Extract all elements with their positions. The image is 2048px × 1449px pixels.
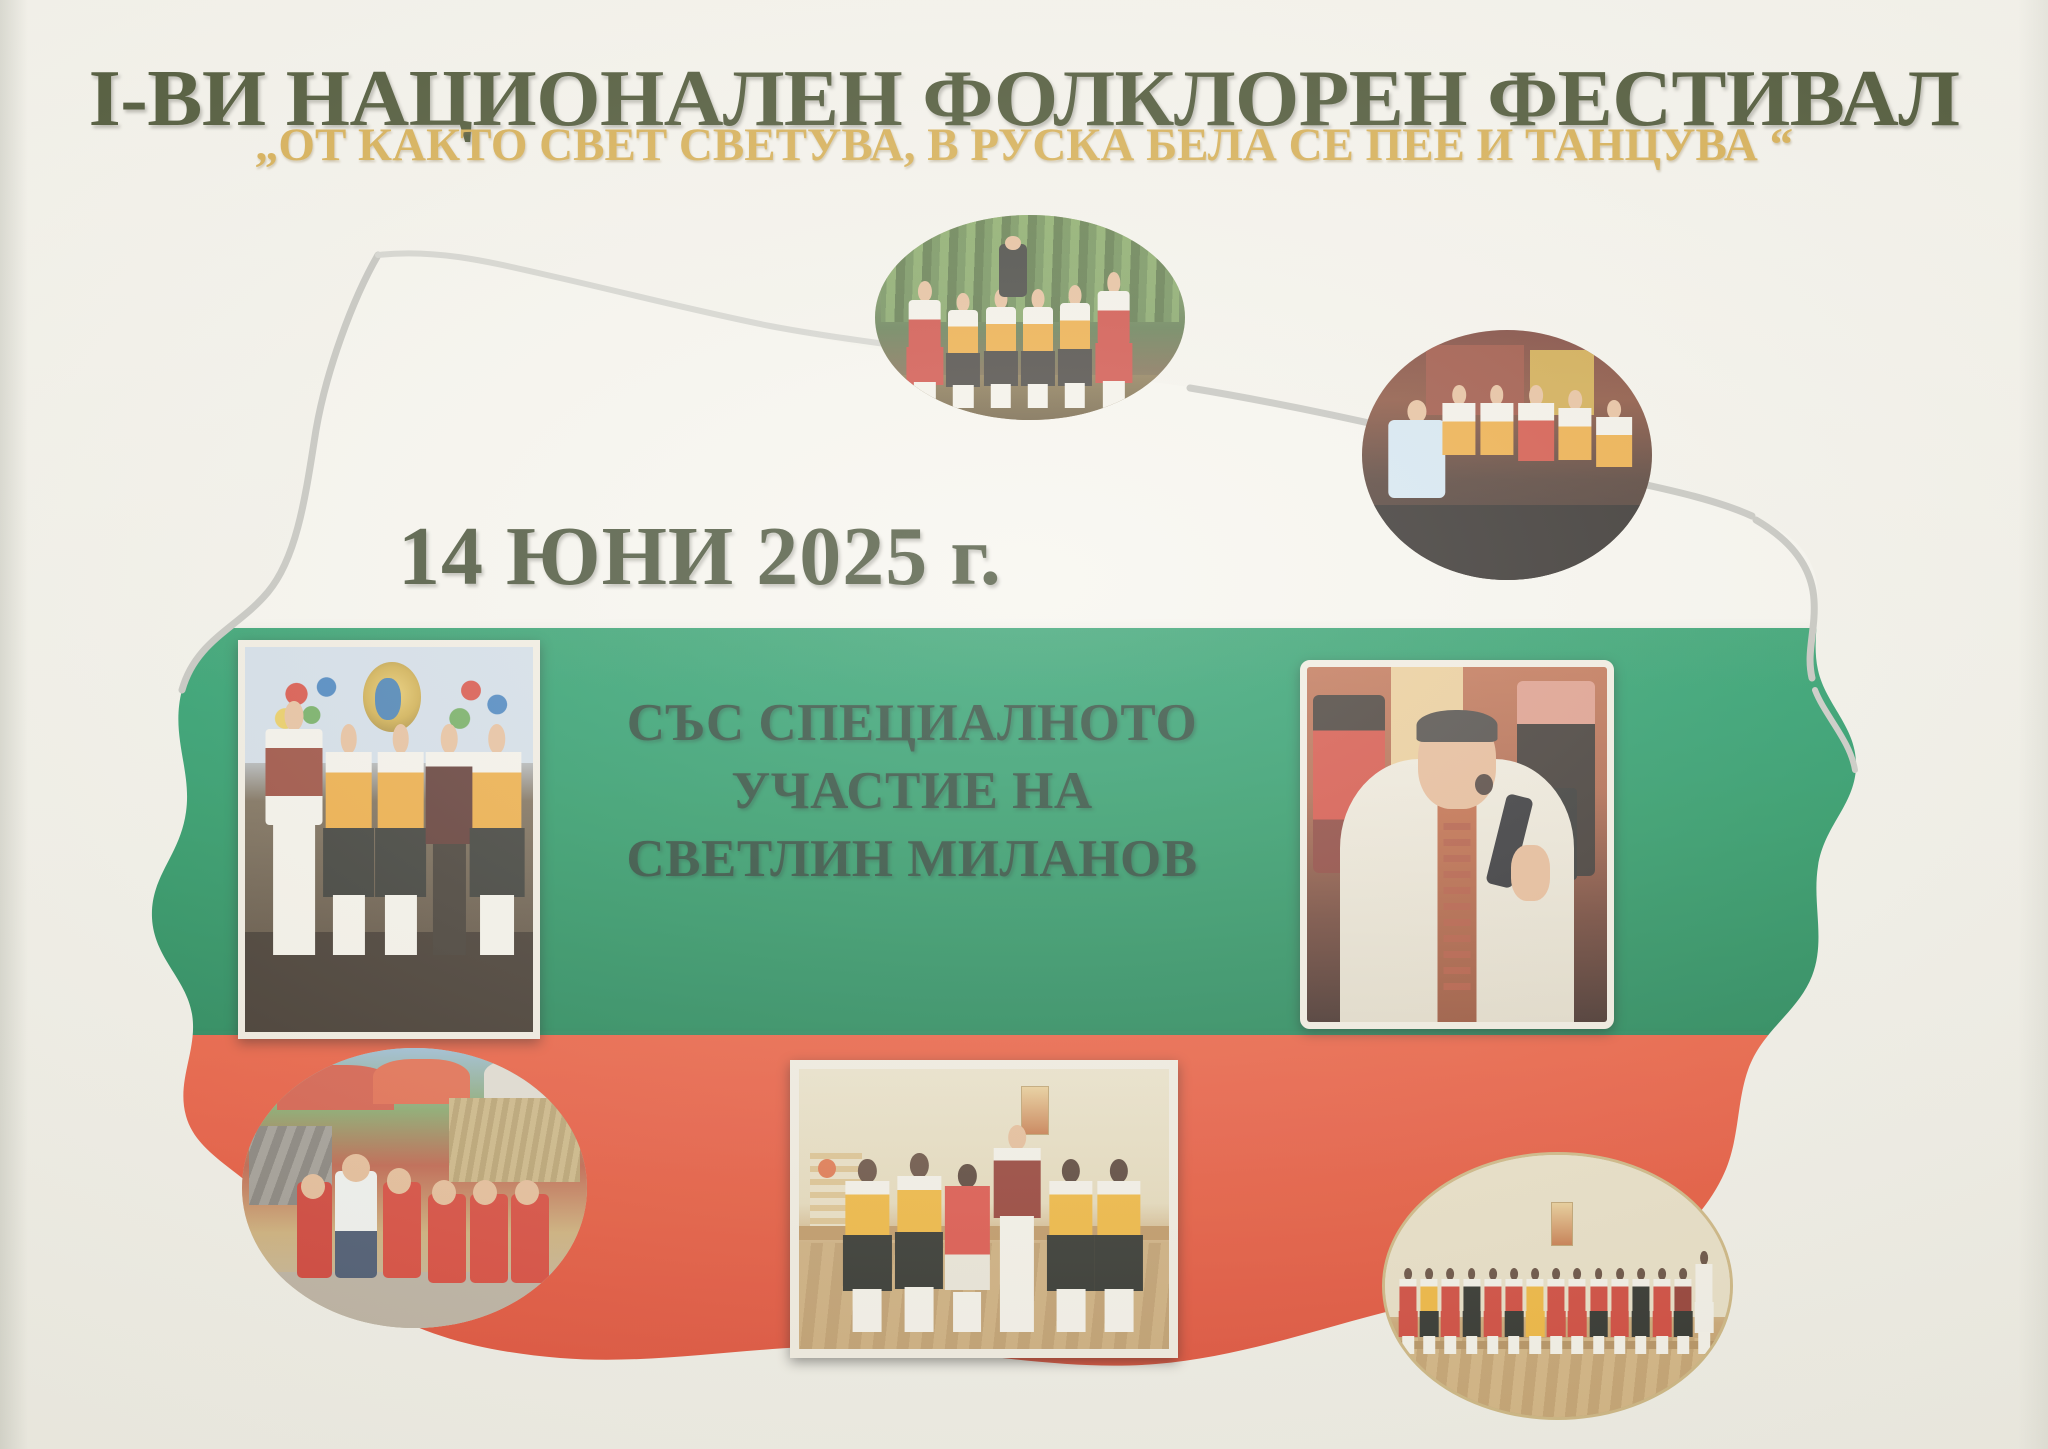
choir-figure-skirt xyxy=(1526,1311,1545,1337)
choir-figure-legs xyxy=(1402,1336,1414,1354)
choir-figure-head xyxy=(1700,1251,1708,1265)
poster-subtitle: „ОТ КАКТО СВЕТ СВЕТУВА, В РУСКА БЕЛА СЕ … xyxy=(0,122,2048,169)
choir-figure xyxy=(1632,1268,1651,1354)
photo-group-indoor-oval xyxy=(1362,330,1652,580)
choir-figure-skirt xyxy=(1505,1311,1524,1337)
photo-scene xyxy=(245,647,533,1032)
photo-scene xyxy=(242,1048,587,1328)
choir-figure-legs xyxy=(1614,1336,1626,1354)
choir-figure-legs xyxy=(1656,1336,1668,1354)
choir-figure-body xyxy=(1653,1279,1670,1312)
choir-figure-legs xyxy=(1423,1336,1435,1354)
choir-figure-body xyxy=(1442,1279,1459,1312)
special-guest-block: СЪС СПЕЦИАЛНОТО УЧАСТИЕ НА СВЕТЛИН МИЛАН… xyxy=(556,690,1268,893)
photo-scene xyxy=(1385,1155,1730,1417)
choir-figure xyxy=(1610,1268,1629,1354)
choir-figure xyxy=(1399,1268,1418,1354)
special-guest-line-1: СЪС СПЕЦИАЛНОТО xyxy=(556,690,1268,758)
choir-figure-legs xyxy=(1550,1336,1562,1354)
special-guest-line-3: СВЕТЛИН МИЛАНОВ xyxy=(556,826,1268,894)
choir-figure-skirt xyxy=(1610,1311,1629,1337)
choir-figure-skirt xyxy=(1589,1311,1608,1337)
choir-figure xyxy=(1420,1268,1439,1354)
photo-scene xyxy=(799,1069,1169,1349)
choir-figure-body xyxy=(1590,1279,1607,1312)
event-date: 14 ЮНИ 2025 г. xyxy=(398,515,1002,599)
choir-figure-skirt xyxy=(1674,1311,1693,1337)
choir-figure-body xyxy=(1421,1279,1438,1312)
choir-figure-skirt xyxy=(1653,1311,1672,1337)
choir-figure-body xyxy=(1484,1279,1501,1312)
choir-figure xyxy=(1547,1268,1566,1354)
photo-scene xyxy=(875,215,1185,420)
photo-scene xyxy=(1307,667,1607,1022)
choir-figure-skirt xyxy=(1547,1311,1566,1337)
choir-figure-skirt xyxy=(1399,1311,1418,1337)
choir-figure-legs xyxy=(1445,1336,1457,1354)
choir-figure-body xyxy=(1400,1279,1417,1312)
choir-figure xyxy=(1695,1251,1714,1354)
choir-figure-legs xyxy=(1572,1336,1584,1354)
choir-figure-body xyxy=(1611,1279,1628,1312)
choir-figure xyxy=(1483,1268,1502,1354)
choir-figure-legs xyxy=(1635,1336,1647,1354)
choir-figure xyxy=(1568,1268,1587,1354)
choir-figure-body xyxy=(1505,1279,1522,1312)
choir-figure-legs xyxy=(1487,1336,1499,1354)
photo-ensemble-hall-rect xyxy=(790,1060,1178,1358)
choir-figure-skirt xyxy=(1568,1311,1587,1337)
choir-figure xyxy=(1441,1268,1460,1354)
choir-figure-body xyxy=(1569,1279,1586,1312)
choir-figure-skirt xyxy=(1462,1311,1481,1337)
choir-figure-body xyxy=(1463,1279,1480,1312)
choir-figure-skirt xyxy=(1632,1311,1651,1337)
choir-figure xyxy=(1462,1268,1481,1354)
choir-figure-body xyxy=(1675,1279,1692,1312)
festival-poster: I-ВИ НАЦИОНАЛЕН ФОЛКЛОРЕН ФЕСТИВАЛ „ОТ К… xyxy=(0,0,2048,1449)
photo-singer-rect xyxy=(1300,660,1614,1029)
choir-figure xyxy=(1653,1268,1672,1354)
choir-figure-skirt xyxy=(1695,1302,1714,1333)
choir-figure-skirt xyxy=(1483,1311,1502,1337)
choir-figure-skirt xyxy=(1420,1311,1439,1337)
choir-figure-body xyxy=(1548,1279,1565,1312)
choir-figure-legs xyxy=(1593,1336,1605,1354)
choir-figure-legs xyxy=(1677,1336,1689,1354)
choir-figure-body xyxy=(1526,1279,1543,1312)
choir-figure-legs xyxy=(1529,1336,1541,1354)
photo-choir-hall-oval xyxy=(1382,1152,1733,1420)
choir-figure-legs xyxy=(1699,1332,1711,1354)
choir-figure-legs xyxy=(1508,1336,1520,1354)
choir-figure xyxy=(1674,1268,1693,1354)
choir-figure-legs xyxy=(1466,1336,1478,1354)
choir-figure-body xyxy=(1696,1264,1713,1303)
photo-scene xyxy=(1362,330,1652,580)
special-guest-line-2: УЧАСТИЕ НА xyxy=(556,758,1268,826)
choir-figure-skirt xyxy=(1441,1311,1460,1337)
choir-figure-body xyxy=(1632,1279,1649,1312)
photo-festival-street-oval xyxy=(242,1048,587,1328)
choir-figure xyxy=(1505,1268,1524,1354)
choir-figure xyxy=(1526,1268,1545,1354)
photo-ensemble-emblem-rect xyxy=(238,640,540,1039)
choir-figure xyxy=(1589,1268,1608,1354)
photo-group-outdoors-oval xyxy=(875,215,1185,420)
